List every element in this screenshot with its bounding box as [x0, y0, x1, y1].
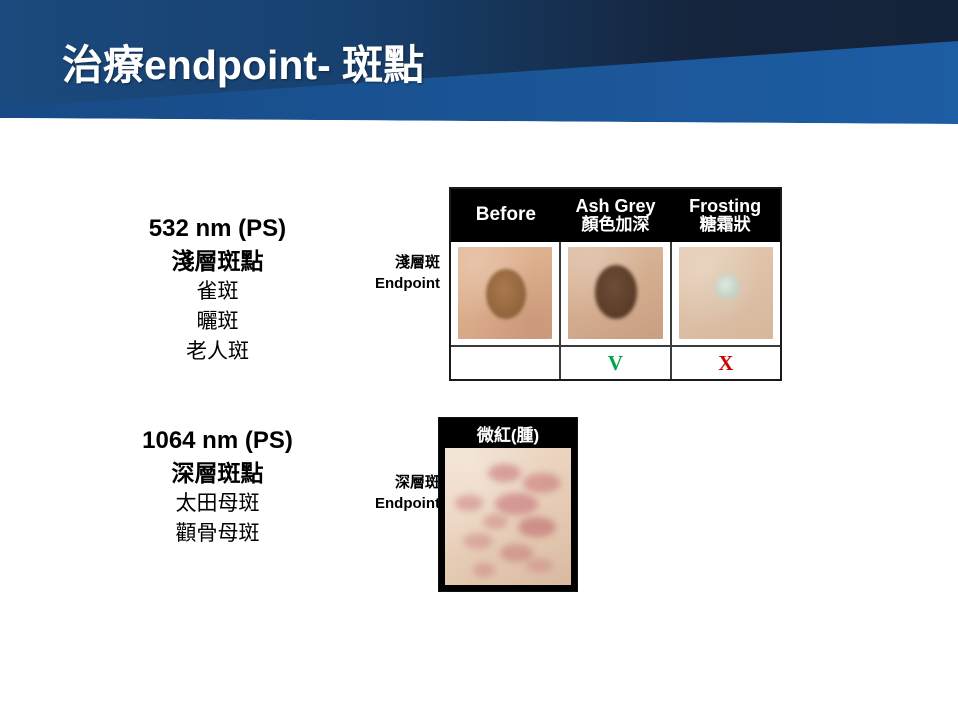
deep-condition-1: 顴骨母斑: [110, 519, 325, 549]
shallow-endpoint-label-en: Endpoint: [340, 273, 440, 294]
slide-canvas: 治療endpoint- 斑點 532 nm (PS) 淺層斑點 雀斑 曬斑 老人…: [0, 0, 958, 707]
shallow-endpoint-label-zh: 淺層斑: [340, 252, 440, 273]
cell-image-frosting: [672, 242, 780, 345]
shallow-wavelength: 532 nm (PS): [110, 212, 325, 245]
deep-endpoint-label-en: Endpoint: [335, 493, 440, 514]
deep-endpoint-label-zh: 深層斑: [335, 472, 440, 493]
erythema-blotch: [495, 493, 538, 515]
comparison-table-image-row: [451, 241, 780, 345]
erythema-blotch: [518, 517, 556, 538]
deep-category: 深層斑點: [110, 457, 325, 489]
cell-mark-frosting: X: [672, 347, 780, 379]
deep-info-block: 1064 nm (PS) 深層斑點 太田母斑 顴骨母斑: [110, 424, 325, 549]
deep-endpoint-label: 深層斑 Endpoint: [335, 472, 440, 514]
erythema-blotch: [500, 544, 533, 562]
page-title: 治療endpoint- 斑點: [62, 40, 424, 90]
cell-image-before: [451, 242, 561, 345]
column-header-frosting-zh: 糖霜狀: [700, 216, 751, 234]
comparison-table-mark-row: V X: [451, 345, 780, 379]
deep-wavelength: 1064 nm (PS): [110, 424, 325, 457]
shallow-condition-0: 雀斑: [110, 277, 325, 307]
shallow-info-block: 532 nm (PS) 淺層斑點 雀斑 曬斑 老人斑: [110, 212, 325, 367]
skin-photo-ash-grey: [568, 247, 662, 339]
skin-photo-deep-endpoint: [445, 448, 571, 585]
erythema-blotch: [483, 514, 508, 529]
cell-mark-before: [451, 347, 561, 379]
column-header-ash-grey-zh: 顏色加深: [582, 216, 650, 234]
erythema-blotch: [523, 473, 561, 494]
skin-photo-before: [458, 247, 552, 339]
check-mark-icon: V: [608, 351, 623, 376]
skin-photo-frosting: [679, 247, 773, 339]
lesion-spot: [486, 269, 526, 319]
column-header-frosting: Frosting 糖霜狀: [670, 189, 780, 241]
cross-mark-icon: X: [718, 351, 733, 376]
erythema-blotch: [473, 563, 496, 577]
deep-panel-caption: 微紅(腫): [439, 418, 577, 448]
slide-header-banner: 治療endpoint- 斑點: [0, 0, 958, 132]
erythema-blotch: [463, 533, 493, 549]
cell-mark-ash-grey: V: [561, 347, 671, 379]
column-header-ash-grey-en: Ash Grey: [575, 197, 655, 216]
column-header-frosting-en: Frosting: [689, 197, 761, 216]
shallow-condition-2: 老人斑: [110, 337, 325, 367]
deep-condition-0: 太田母斑: [110, 489, 325, 519]
erythema-blotch: [455, 495, 483, 511]
lesion-spot: [595, 265, 637, 318]
column-header-before: Before: [451, 189, 561, 241]
column-header-ash-grey: Ash Grey 顏色加深: [561, 189, 671, 241]
comparison-table-header-row: Before Ash Grey 顏色加深 Frosting 糖霜狀: [451, 189, 780, 241]
column-header-before-en: Before: [476, 205, 536, 225]
deep-endpoint-panel: 微紅(腫): [438, 417, 578, 592]
shallow-endpoint-label: 淺層斑 Endpoint: [340, 252, 440, 294]
shallow-category: 淺層斑點: [110, 245, 325, 277]
shallow-condition-1: 曬斑: [110, 307, 325, 337]
frosting-spot: [715, 275, 740, 299]
erythema-blotch: [488, 464, 521, 482]
erythema-blotch: [526, 558, 554, 573]
endpoint-comparison-table: Before Ash Grey 顏色加深 Frosting 糖霜狀: [449, 187, 782, 381]
deep-panel-image-wrap: [439, 448, 577, 591]
cell-image-ash-grey: [561, 242, 671, 345]
